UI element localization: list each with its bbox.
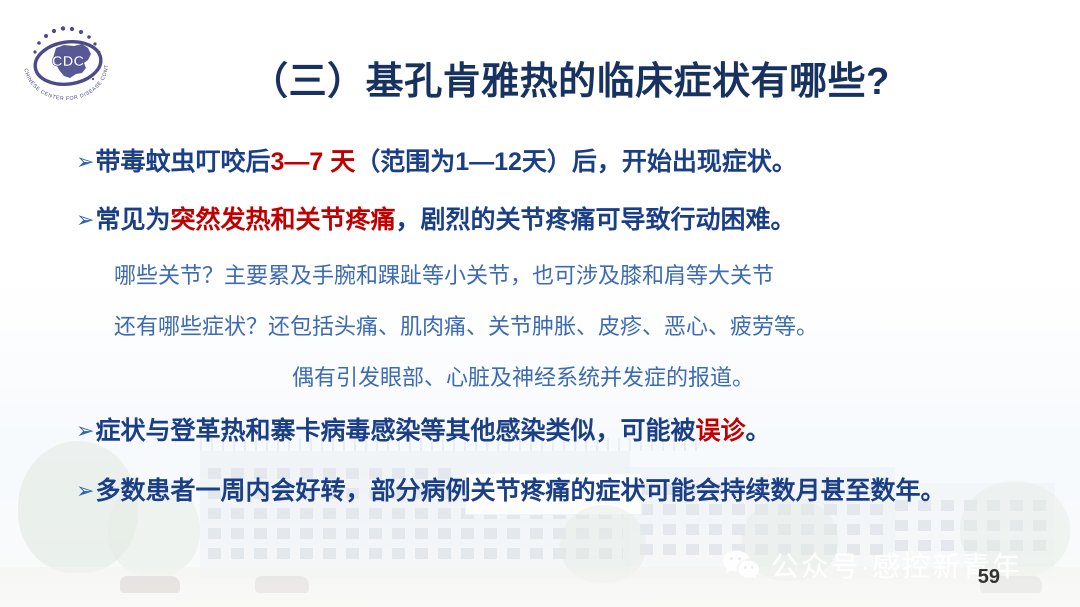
bullet-item-1: ➢ 带毒蚊虫叮咬后 3—7 天 （范围为1—12天）后，开始出现症状。 [0, 148, 1080, 177]
sub-line-symptoms: 还有哪些症状？还包括头痛、肌肉痛、关节肿胀、皮疹、恶心、疲劳等。 [0, 314, 1080, 339]
tree-foliage [560, 505, 646, 583]
window-row [895, 520, 1050, 531]
car [255, 576, 309, 593]
bullet-text-part: 症状与登革热和寨卡病毒感染等其他感染类似，可能被 [95, 417, 695, 446]
bullet-text-emphasis: 误诊 [695, 417, 745, 446]
window-row [208, 528, 623, 539]
bullet-arrow-icon: ➢ [76, 478, 94, 503]
bullet-arrow-icon: ➢ [76, 418, 94, 443]
window-row [895, 540, 1050, 551]
wechat-icon [721, 548, 761, 582]
bullet-arrow-icon: ➢ [76, 149, 94, 174]
sub-line-joints: 哪些关节？主要累及手腕和踝趾等小关节，也可涉及膝和肩等大关节 [0, 263, 1080, 288]
slide-body: ➢ 带毒蚊虫叮咬后 3—7 天 （范围为1—12天）后，开始出现症状。 ➢ 常见… [0, 140, 1080, 506]
page-number: 59 [978, 566, 1000, 589]
bullet-item-4: ➢ 多数患者一周内会好转，部分病例关节疼痛的症状可能会持续数月甚至数年。 [0, 477, 1080, 506]
page-title: （三）基孔肯雅热的临床症状有哪些? [0, 50, 1080, 105]
window-row [208, 508, 623, 519]
bullet-text-emphasis: 3—7 天 [270, 148, 355, 177]
presentation-slide: CHINESE CENTER FOR DISEASE CONTROL AND P… [0, 0, 1080, 607]
tree-foliage [742, 497, 838, 581]
sub-line-complications: 偶有引发眼部、心脏及神经系统并发症的报道。 [0, 365, 1080, 390]
window-row [208, 548, 623, 559]
window-row [640, 544, 890, 555]
bullet-item-3: ➢ 症状与登革热和寨卡病毒感染等其他感染类似，可能被 误诊 。 [0, 417, 1080, 446]
bullet-text-part: ，剧烈的关节疼痛可导致行动困难。 [395, 206, 795, 235]
bullet-arrow-icon: ➢ [76, 207, 94, 232]
bullet-text-part: （范围为1—12天）后，开始出现症状。 [355, 148, 797, 177]
window-row [640, 524, 890, 535]
bullet-text-part: 多数患者一周内会好转，部分病例关节疼痛的症状可能会持续数月甚至数年。 [95, 477, 945, 506]
bullet-text-part: 常见为 [95, 206, 170, 235]
car [120, 576, 180, 593]
bullet-item-2: ➢ 常见为 突然发热和关节疼痛 ，剧烈的关节疼痛可导致行动困难。 [0, 206, 1080, 235]
bullet-text-emphasis: 突然发热和关节疼痛 [170, 206, 395, 235]
bullet-text-part: 带毒蚊虫叮咬后 [95, 148, 270, 177]
bullet-text-part: 。 [745, 417, 770, 446]
ground-strip [0, 567, 1080, 607]
